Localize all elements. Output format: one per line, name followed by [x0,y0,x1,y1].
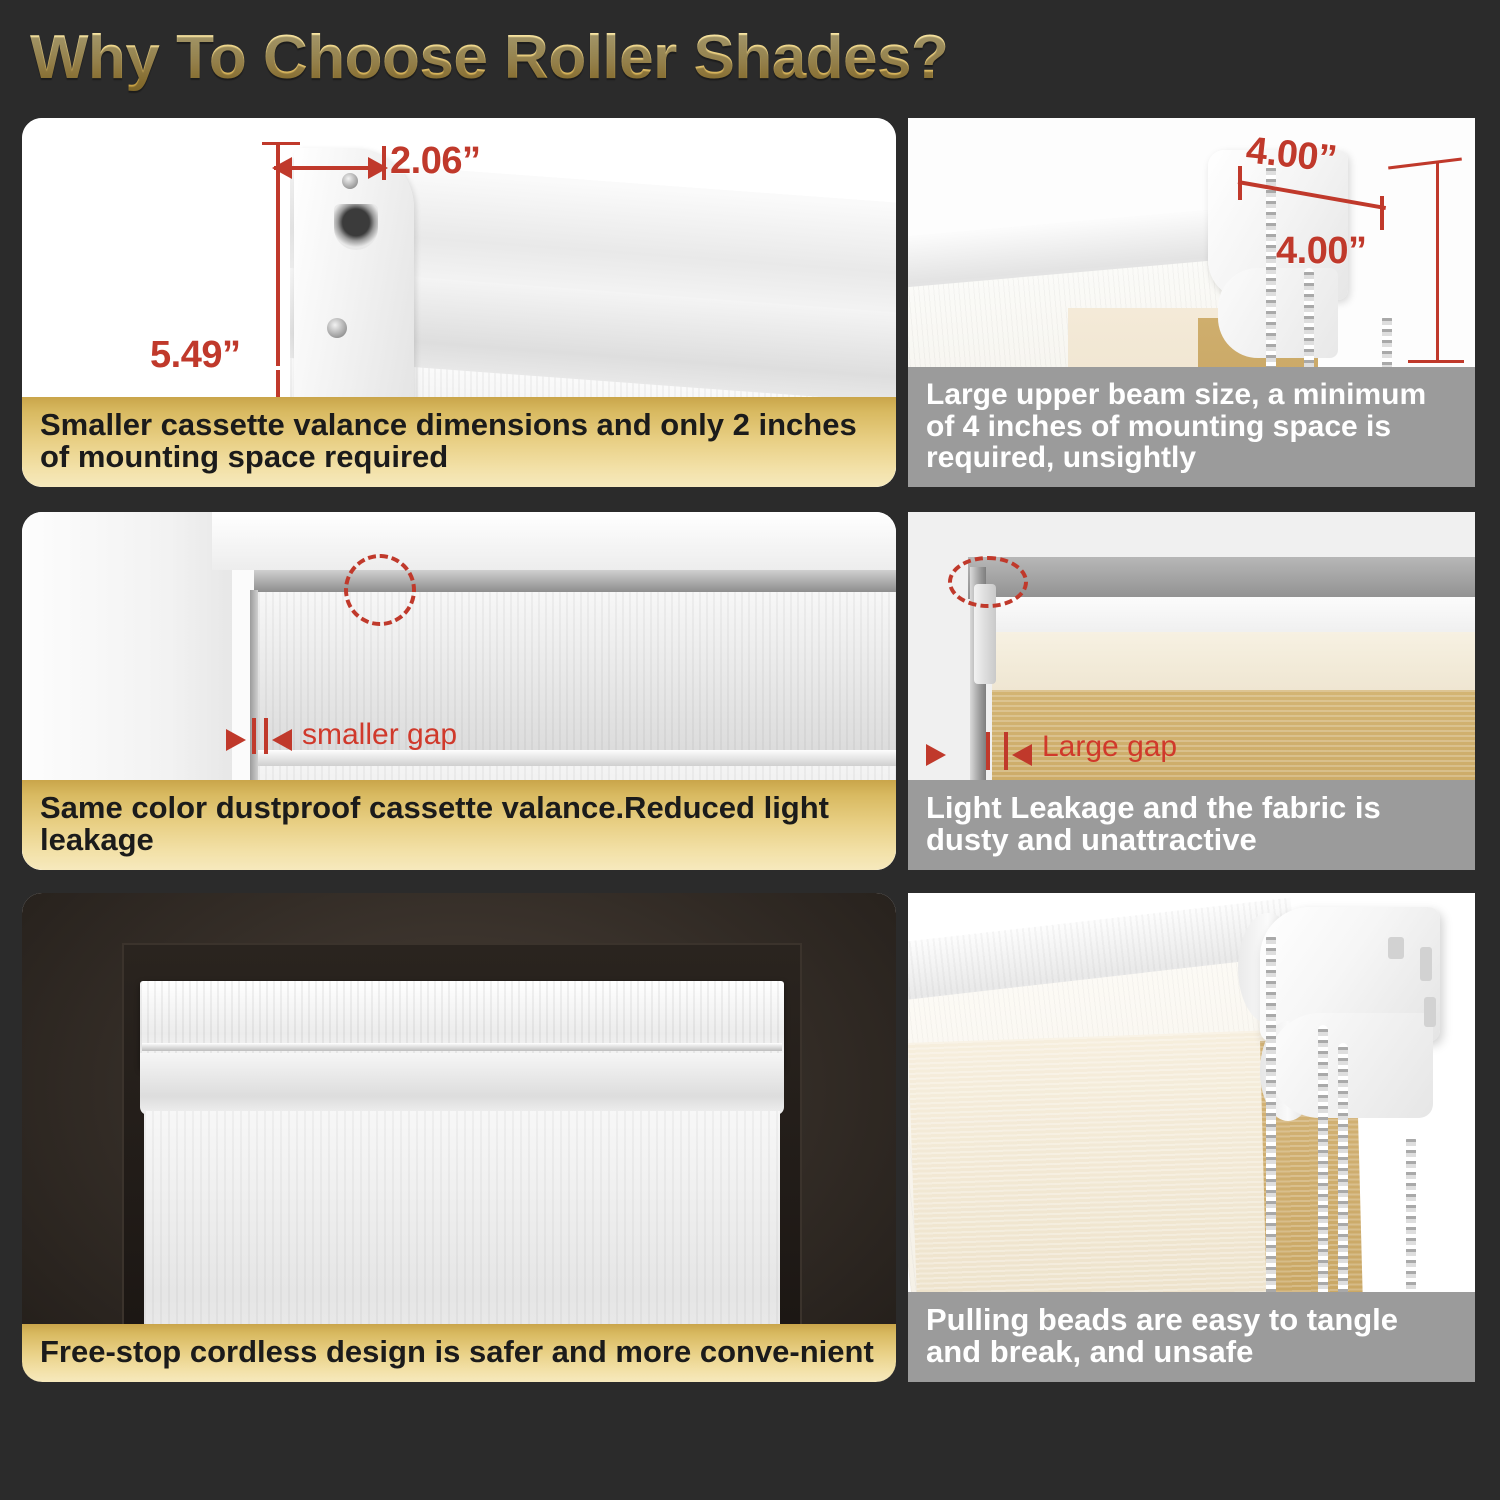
caption-con-pulling-beads: Pulling beads are easy to tangle and bre… [908,1292,1475,1382]
caption-pro-cordless-design: Free-stop cordless design is safer and m… [22,1324,896,1382]
infographic-page: Why To Choose Roller Shades? 2.06” 5.49”… [0,0,1500,1500]
height-dimension-label: 5.49” [150,334,240,377]
gap-arrow-left [1012,744,1032,766]
height-dimension-tick-top [262,142,300,145]
gap-tick-left [986,732,990,770]
gap-arrow-right [926,744,946,766]
gap-arrow-right [226,729,246,751]
width-dimension-label: 2.06” [390,140,480,183]
beam-width-tick-right [1380,196,1384,230]
product-photo-room-window [22,893,896,1382]
caption-con-beam-size: Large upper beam size, a minimum of 4 in… [908,367,1475,487]
page-title: Why To Choose Roller Shades? [30,22,948,93]
gap-tick-right [264,718,268,754]
gap-highlight-circle [344,554,416,626]
panel-con-beam-size: 4.00” 4.00” Large upper beam size, a min… [908,118,1475,487]
gap-highlight-circle [948,556,1028,608]
beam-height-dimension-line [1436,162,1439,362]
gap-arrow-left [272,729,292,751]
panel-pro-dustproof-valance: smaller gap Same color dustproof cassett… [22,512,896,870]
gap-tick-right [1004,732,1008,770]
gap-callout-label: Large gap [1042,730,1177,764]
beam-height-tick-bottom [1408,360,1464,363]
width-dimension-tick [382,146,386,180]
panel-con-light-leakage: Large gap Light Leakage and the fabric i… [908,512,1475,870]
panel-pro-cordless-design: Free-stop cordless design is safer and m… [22,893,896,1382]
width-dimension-arrow-left [272,157,292,179]
beam-height-dimension-label: 4.00” [1276,230,1366,273]
caption-con-light-leakage: Light Leakage and the fabric is dusty an… [908,780,1475,870]
caption-pro-dustproof-valance: Same color dustproof cassette valance.Re… [22,780,896,870]
panel-con-pulling-beads: Pulling beads are easy to tangle and bre… [908,893,1475,1382]
caption-pro-cassette-size: Smaller cassette valance dimensions and … [22,397,896,487]
beam-width-tick-left [1238,166,1242,200]
height-dimension-line [276,142,280,366]
panel-pro-cassette-size: 2.06” 5.49” Smaller cassette valance dim… [22,118,896,487]
gap-callout-label: smaller gap [302,718,457,752]
gap-tick-left [252,718,256,754]
